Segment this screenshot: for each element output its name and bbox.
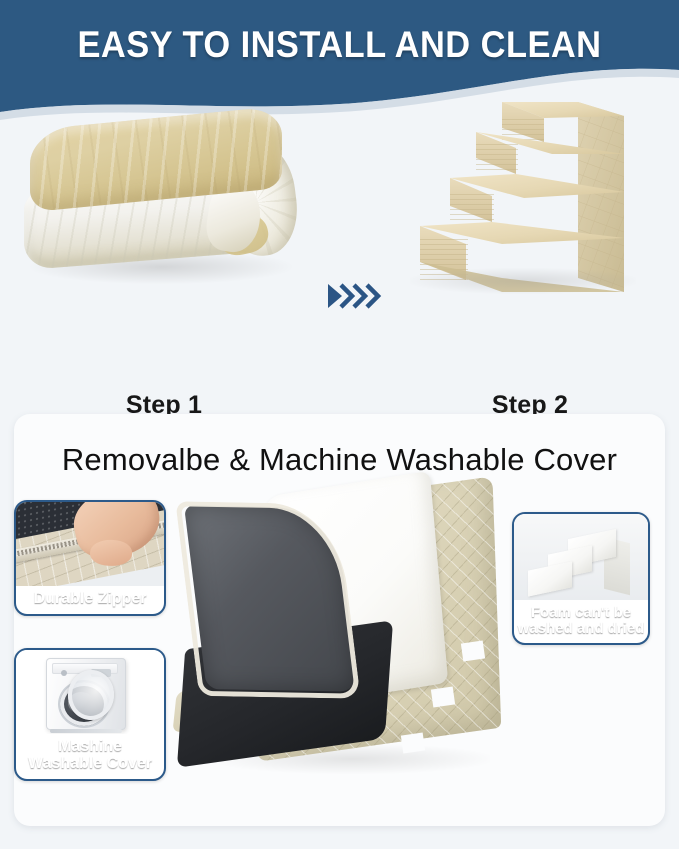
washer-base <box>50 729 122 733</box>
foam-roll <box>22 118 294 278</box>
hero-step-notch <box>431 687 455 708</box>
washing-machine-photo <box>16 650 164 734</box>
page-title: EASY TO INSTALL AND CLEAN <box>24 24 655 66</box>
badge-label-foam-not-washable: Foam can't be washed and dried <box>514 600 648 643</box>
hero-step-notch <box>461 641 485 662</box>
badge-label-machine-washable: Mashine Washable Cover <box>16 734 164 779</box>
badge-durable-zipper: Durable Zipper <box>14 500 166 616</box>
stairs-with-cover-peeled-back-image <box>174 476 544 816</box>
zipper-photo <box>16 502 164 586</box>
triple-chevron-right-icon <box>326 280 386 312</box>
four-step-pet-stairs-image <box>392 92 652 302</box>
badge-machine-washable-cover: Mashine Washable Cover <box>14 648 166 781</box>
vacuum-packed-foam-roll-image <box>14 108 314 298</box>
hero-step-notch <box>401 733 425 754</box>
progress-arrows <box>326 280 386 312</box>
cover-section-title: Removalbe & Machine Washable Cover <box>14 442 665 478</box>
washer-knob <box>61 670 67 676</box>
badge-label-durable-zipper: Durable Zipper <box>16 586 164 614</box>
stairs-shadow <box>410 268 636 294</box>
steps-section: Step 1 Unpack the packages Step 2 Wait f… <box>0 86 679 401</box>
badge-foam-not-washable: Foam can't be washed and dried <box>512 512 650 645</box>
infographic-page: EASY TO INSTALL AND CLEAN <box>0 0 679 849</box>
white-foam-stairs-photo <box>514 514 648 600</box>
